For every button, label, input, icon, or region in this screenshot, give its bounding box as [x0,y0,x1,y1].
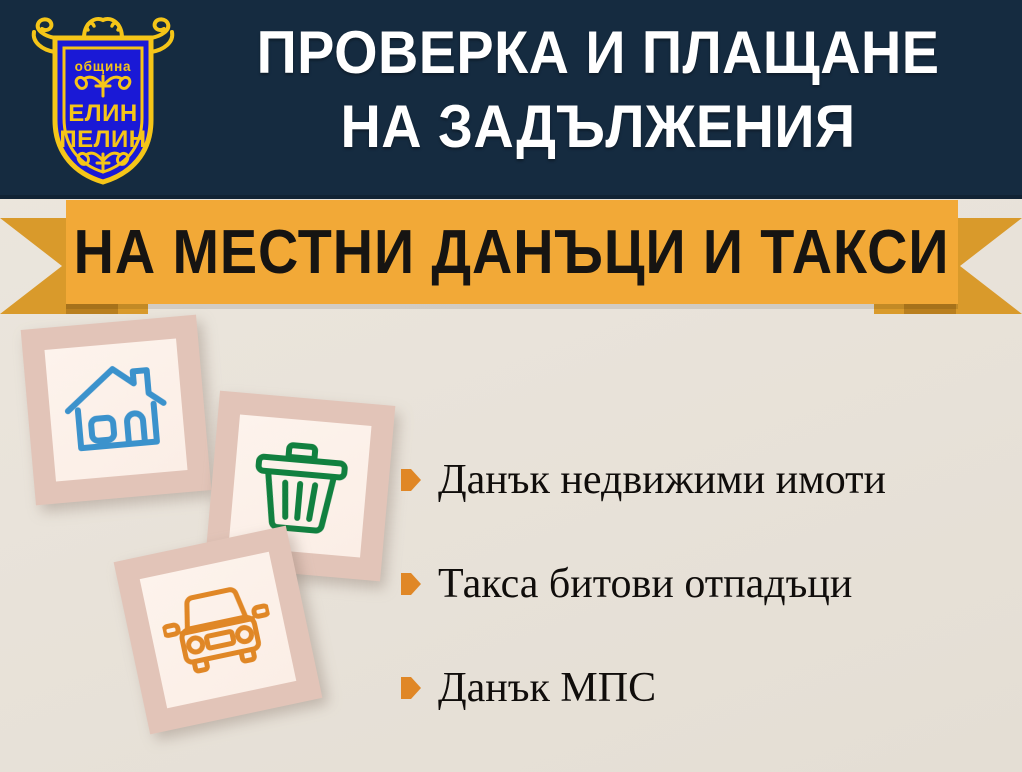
stamp-face-car [140,552,297,709]
header-band: община ЕЛИН ПЕЛИН [0,0,1022,199]
crest-word-line1: ЕЛИН [68,100,137,127]
crest-word-line2: ПЕЛИН [59,126,146,153]
list-item[interactable]: Данък МПС [400,636,1010,740]
poster-canvas: община ЕЛИН ПЕЛИН [0,0,1022,772]
crest-word-top: община [75,59,132,74]
arrow-bullet-icon [400,467,422,493]
house-icon [60,359,172,462]
list-item-label: Данък МПС [438,666,656,710]
stamp-face-house [44,338,187,481]
page-title: ПРОВЕРКА И ПЛАЩАНЕ НА ЗАДЪЛЖЕНИЯ [217,16,980,164]
subtitle-ribbon: НА МЕСТНИ ДАНЪЦИ И ТАКСИ [0,196,1022,314]
stamp-card-car [114,526,323,735]
arrow-bullet-icon [400,571,422,597]
ribbon-label: НА МЕСТНИ ДАНЪЦИ И ТАКСИ [74,217,950,288]
stamp-card-house [21,315,212,506]
ribbon-banner: НА МЕСТНИ ДАНЪЦИ И ТАКСИ [66,200,958,304]
list-item-label: Такса битови отпадъци [438,562,852,606]
arrow-bullet-icon [400,675,422,701]
list-item[interactable]: Такса битови отпадъци [400,532,1010,636]
list-item[interactable]: Данък недвижими имоти [400,428,1010,532]
municipality-crest-icon: община ЕЛИН ПЕЛИН [22,8,184,190]
trash-bin-icon [250,432,350,540]
car-front-icon [156,576,280,685]
list-item-label: Данък недвижими имоти [438,458,886,502]
tax-type-list: Данък недвижими имоти Такса битови отпад… [400,428,1010,740]
